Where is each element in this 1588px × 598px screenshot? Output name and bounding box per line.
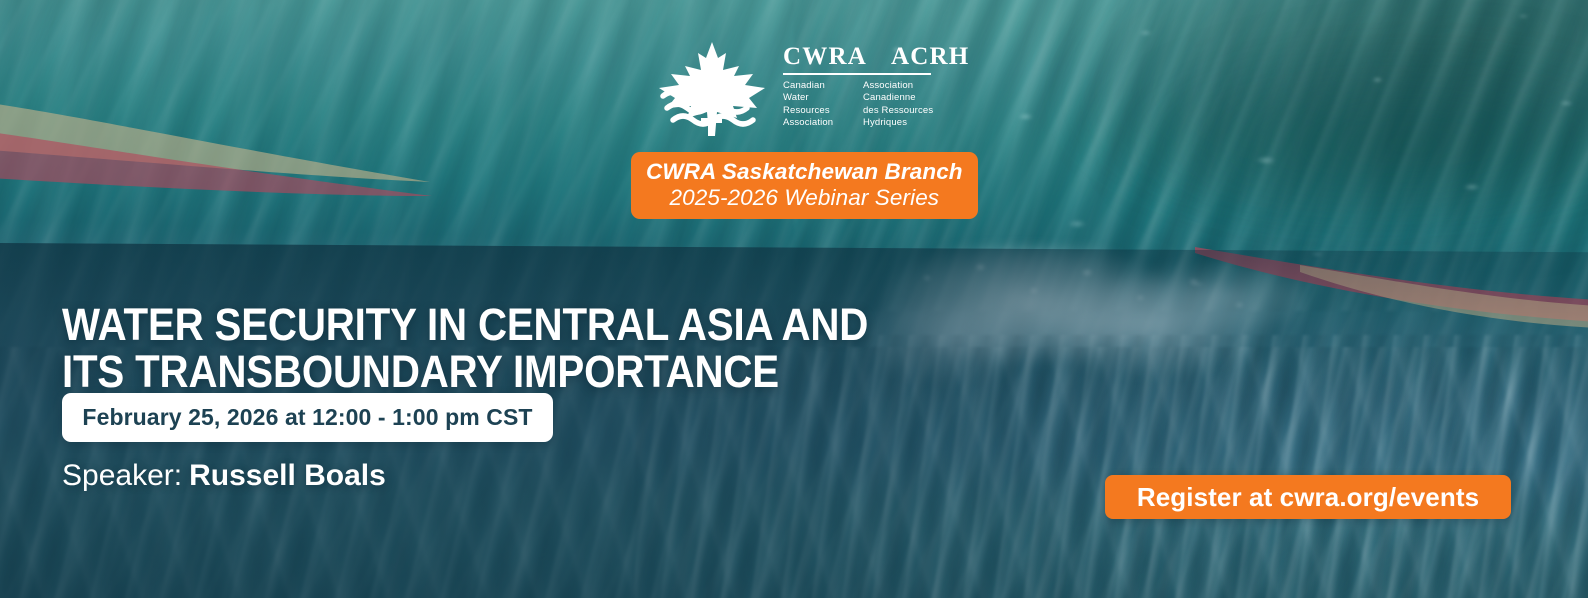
- speaker-name: Russell Boals: [189, 459, 386, 492]
- speaker-line: Speaker:Russell Boals: [62, 461, 386, 491]
- register-button-label: Register at cwra.org/events: [1137, 482, 1479, 513]
- webinar-banner: CWRA ACRH Canadian Water Resources Assoc…: [0, 0, 1588, 598]
- cwra-logo: CWRA ACRH Canadian Water Resources Assoc…: [653, 38, 969, 136]
- register-button[interactable]: Register at cwra.org/events: [1105, 475, 1511, 519]
- series-badge-branch: CWRA Saskatchewan Branch: [646, 159, 963, 184]
- speaker-label: Speaker:: [62, 459, 182, 492]
- page-title-line-2: ITS TRANSBOUNDARY IMPORTANCE: [62, 349, 868, 396]
- logo-divider-rule: [783, 73, 931, 75]
- banner-content: CWRA ACRH Canadian Water Resources Assoc…: [0, 0, 1588, 598]
- series-badge-season: 2025-2026 Webinar Series: [646, 185, 963, 210]
- logo-wordmark-en: CWRA: [783, 44, 867, 69]
- page-title: WATER SECURITY IN CENTRAL ASIA AND ITS T…: [62, 302, 868, 396]
- series-badge: CWRA Saskatchewan Branch 2025-2026 Webin…: [631, 152, 978, 219]
- logo-subtitle-en: Canadian Water Resources Association: [783, 80, 841, 130]
- maple-leaf-water-icon: [653, 38, 771, 136]
- date-time-text: February 25, 2026 at 12:00 - 1:00 pm CST: [82, 404, 532, 431]
- logo-wordmark: CWRA ACRH: [783, 44, 969, 69]
- logo-subtitle-fr: Association Canadienne des Ressources Hy…: [863, 80, 933, 130]
- logo-text-block: CWRA ACRH Canadian Water Resources Assoc…: [783, 38, 969, 130]
- logo-subtitle: Canadian Water Resources Association Ass…: [783, 80, 969, 130]
- date-time-pill: February 25, 2026 at 12:00 - 1:00 pm CST: [62, 393, 553, 442]
- logo-wordmark-fr: ACRH: [891, 44, 969, 69]
- page-title-line-1: WATER SECURITY IN CENTRAL ASIA AND: [62, 302, 868, 349]
